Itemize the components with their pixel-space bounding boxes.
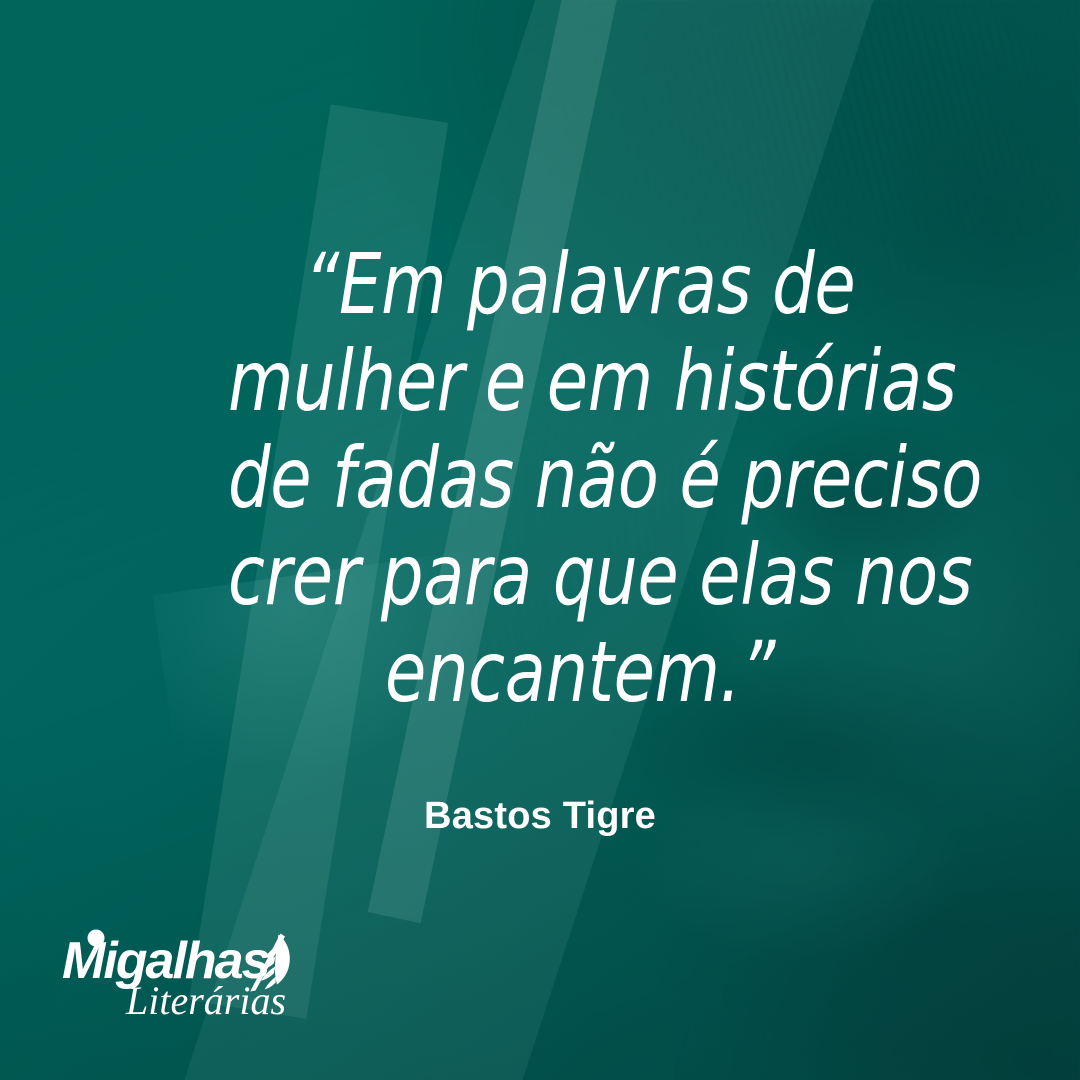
quote-line-4: crer para que elas nos — [228, 527, 932, 624]
logo-subtitle-text: Literárias — [125, 978, 286, 1020]
quote-line-5: encantem.” — [228, 624, 932, 721]
quote-text: “Em palavras de mulher e em histórias de… — [140, 236, 1020, 721]
quote-author: Bastos Tigre — [0, 795, 1080, 838]
migalhas-literarias-logo[interactable]: Migalhas Literárias — [62, 928, 312, 1020]
quote-card: “Em palavras de mulher e em histórias de… — [0, 0, 1080, 1080]
card-content: “Em palavras de mulher e em histórias de… — [0, 0, 1080, 1080]
quote-line-3: de fadas não é preciso — [228, 430, 932, 527]
quote-line-1: “Em palavras de — [228, 236, 932, 333]
logo-i-dot-icon — [88, 930, 105, 947]
quote-line-2: mulher e em histórias — [228, 333, 932, 430]
